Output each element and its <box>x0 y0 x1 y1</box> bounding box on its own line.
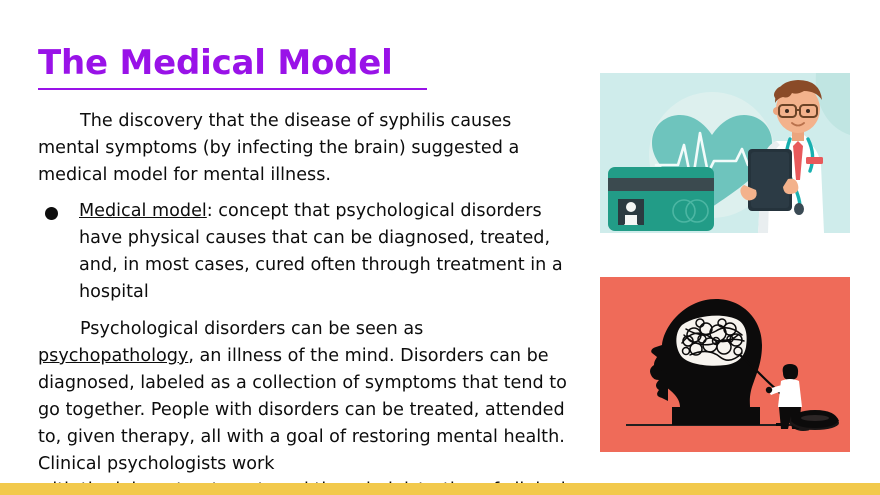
bottom-accent-bar <box>0 483 880 495</box>
bullet-dot-icon <box>45 207 58 220</box>
body-text-column: The discovery that the disease of syphil… <box>38 108 578 478</box>
slide-canvas: The Medical Model The discovery that the… <box>0 0 880 495</box>
doctor-heart-insurance-illustration <box>600 73 850 233</box>
term-medical-model: Medical model <box>79 201 207 221</box>
bullet-item-medical-model: Medical model: concept that psychologica… <box>38 198 578 306</box>
paragraph-syphilis: The discovery that the disease of syphil… <box>38 108 578 189</box>
head-tangled-brain-vacuum-illustration <box>600 277 850 452</box>
paragraph-lead: Psychological disorders can be seen as <box>80 319 423 339</box>
page-title: The Medical Model <box>38 46 393 80</box>
title-underline <box>38 88 427 90</box>
bullet-item-text: Medical model: concept that psychologica… <box>79 198 578 306</box>
term-psychopathology: psychopathology <box>38 346 188 366</box>
paragraph-psychopathology: Psychological disorders can be seen as p… <box>38 316 578 478</box>
